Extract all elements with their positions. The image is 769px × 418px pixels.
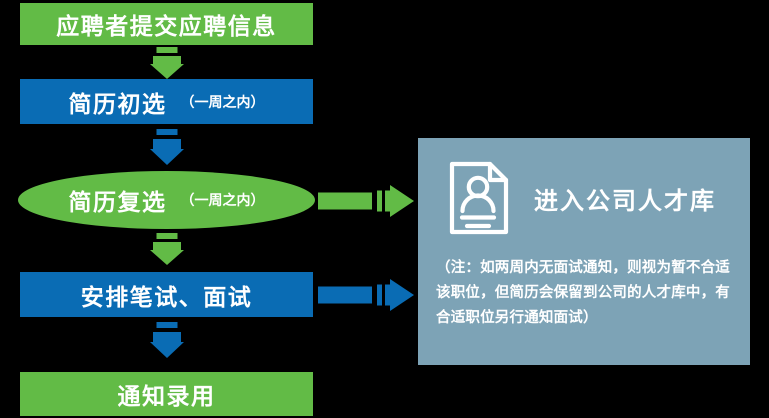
- talent-pool-note: （注：如两周内无面试通知，则视为暂不合适该职位，但简历会保留到公司的人才库中，有…: [436, 256, 734, 331]
- connector-stem: [153, 242, 181, 250]
- connector-submit-to-screen1: [20, 45, 313, 79]
- connector-cap: [156, 233, 177, 239]
- connector-screen2-to-talentpool: [318, 185, 416, 217]
- connector-arrowhead-down-icon: [150, 64, 184, 79]
- resume-person-document-icon: [448, 159, 510, 237]
- connector-stem: [153, 332, 181, 342]
- flow-node-label: 安排笔试、面试: [81, 278, 253, 312]
- connector-stem: [318, 193, 372, 210]
- connector-arrowhead-down-icon: [150, 342, 184, 358]
- flow-node-interview[interactable]: 安排笔试、面试: [20, 272, 313, 317]
- connector-stem: [153, 139, 181, 149]
- connector-screen1-to-screen2: [20, 124, 313, 172]
- connector-arrowhead-right-icon: [390, 279, 414, 311]
- connector-cap: [156, 47, 177, 53]
- flow-node-offer[interactable]: 通知录用: [20, 372, 313, 416]
- connector-arrowhead-down-icon: [150, 149, 184, 165]
- flow-node-submit[interactable]: 应聘者提交应聘信息: [20, 3, 313, 45]
- connector-cap: [377, 191, 382, 212]
- flow-node-label: 简历初选: [69, 85, 167, 119]
- talent-pool-header: 进入公司人才库: [448, 152, 740, 244]
- connector-stem: [318, 287, 372, 304]
- connector-cap: [156, 129, 177, 135]
- flow-node-note: （一周之内）: [181, 190, 265, 210]
- connector-interview-to-offer: [20, 317, 313, 365]
- talent-pool-title: 进入公司人才库: [534, 181, 716, 216]
- flow-node-note: （一周之内）: [181, 92, 265, 112]
- flow-node-screen2[interactable]: 简历复选 （一周之内）: [18, 171, 315, 229]
- connector-arrowhead-right-icon: [390, 185, 414, 217]
- connector-interview-to-talentpool: [318, 279, 416, 311]
- flow-node-label: 简历复选: [69, 183, 167, 217]
- connector-stem: [153, 56, 181, 64]
- connector-cap: [156, 322, 177, 328]
- connector-screen2-to-interview: [20, 229, 313, 272]
- flow-node-label: 通知录用: [118, 377, 216, 411]
- connector-arrowhead-down-icon: [150, 250, 184, 265]
- flow-node-screen1[interactable]: 简历初选 （一周之内）: [20, 79, 313, 124]
- flow-node-label: 应聘者提交应聘信息: [56, 7, 277, 41]
- flowchart-canvas: 应聘者提交应聘信息 简历初选 （一周之内） 简历复选 （一周之内） 安排笔试、面…: [0, 0, 769, 418]
- talent-pool-panel[interactable]: 进入公司人才库 （注：如两周内无面试通知，则视为暂不合适该职位，但简历会保留到公…: [418, 138, 750, 365]
- connector-cap: [377, 285, 382, 306]
